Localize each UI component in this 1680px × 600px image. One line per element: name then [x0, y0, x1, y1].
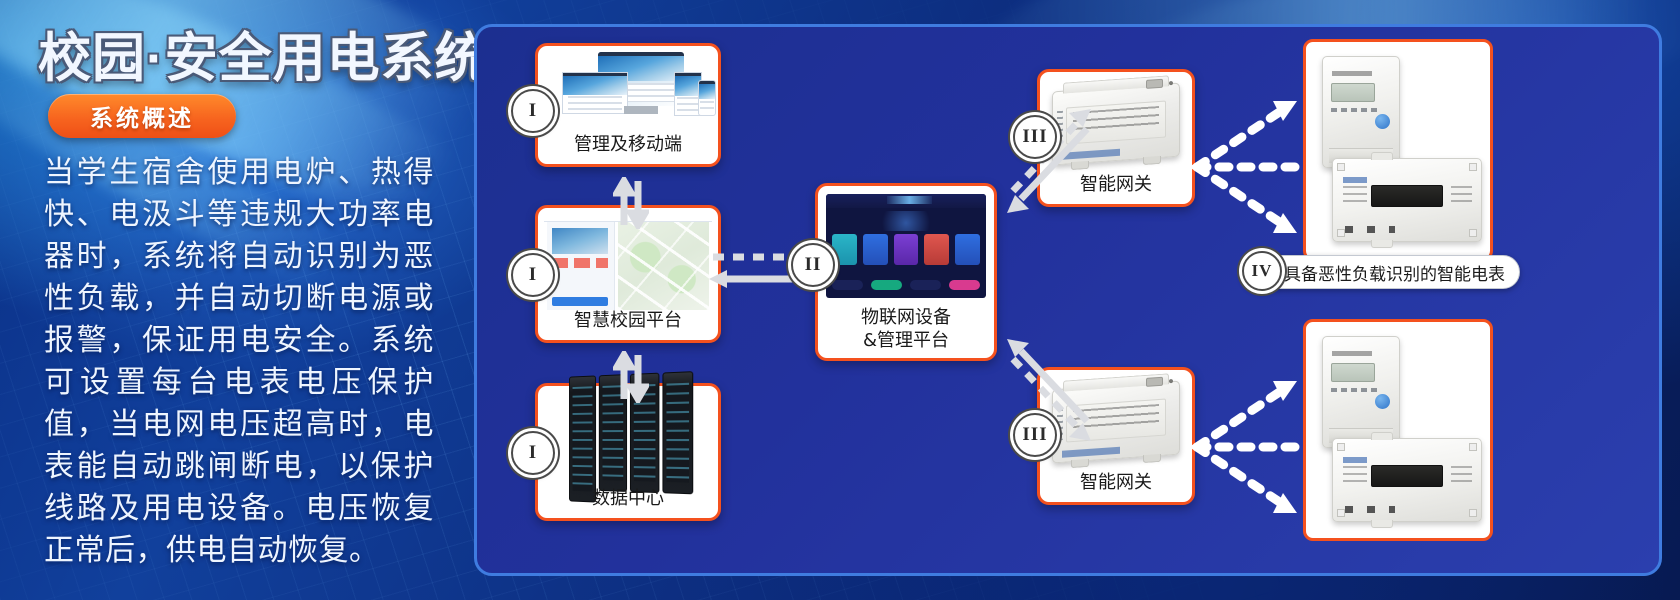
step-numeral-badge: III: [1013, 115, 1057, 159]
node-caption: 智慧校园平台: [538, 309, 718, 332]
page-title: 校园·安全用电系统: [38, 16, 489, 92]
system-diagram-panel: 管理及移动端 I 智慧校园平台 I 数据中心 I: [474, 24, 1662, 576]
connector-gateway-top-to-meters: [1185, 67, 1315, 267]
iot-dashboard-icon: [826, 194, 986, 298]
step-numeral-badge: IV: [1242, 251, 1282, 291]
monitor-stand-icon: [624, 106, 658, 114]
meter-type-label[interactable]: IV 具备恶性负载识别的智能电表: [1243, 255, 1520, 289]
section-badge-label: 系统概述: [90, 99, 194, 133]
dashboard-map-icon: [544, 214, 712, 314]
node-data-center[interactable]: 数据中心: [535, 383, 721, 521]
phone-icon: [698, 80, 716, 116]
section-badge: 系统概述: [48, 94, 236, 138]
intro-column: 校园·安全用电系统 系统概述 当学生宿舍使用电炉、热得快、电汲斗等违规大功率电器…: [0, 0, 470, 600]
node-admin-mobile[interactable]: 管理及移动端: [535, 43, 721, 167]
connector-campus-to-datacenter: [613, 351, 649, 403]
node-caption: 数据中心: [538, 487, 718, 510]
meter-panel-bottom[interactable]: [1303, 319, 1493, 541]
node-caption: 物联网设备 &管理平台: [818, 306, 994, 352]
meter-type-label-text: 具备恶性负载识别的智能电表: [1284, 260, 1505, 285]
laptop-icon: [562, 72, 628, 114]
step-numeral-badge: III: [1013, 413, 1057, 457]
step-numeral-badge: I: [511, 89, 555, 133]
connector-gateway-bottom-to-meters: [1185, 347, 1315, 547]
step-numeral-badge: I: [511, 431, 555, 475]
node-caption: 管理及移动端: [538, 133, 718, 156]
wide-meter-icon: [1332, 158, 1482, 242]
node-caption: 智能网关: [1040, 471, 1192, 494]
overview-paragraph: 当学生宿舍使用电炉、热得快、电汲斗等违规大功率电器时，系统将自动识别为恶性负载，…: [44, 152, 434, 572]
wide-meter-icon: [1332, 438, 1482, 522]
node-caption-line2: &管理平台: [818, 329, 994, 352]
step-numeral-badge: II: [791, 243, 835, 287]
connector-admin-to-campus: [613, 177, 649, 229]
step-numeral-badge: I: [511, 253, 555, 297]
meter-panel-top[interactable]: [1303, 39, 1493, 261]
node-caption-line1: 物联网设备: [818, 306, 994, 329]
node-iot-platform[interactable]: 物联网设备 &管理平台: [815, 183, 997, 361]
